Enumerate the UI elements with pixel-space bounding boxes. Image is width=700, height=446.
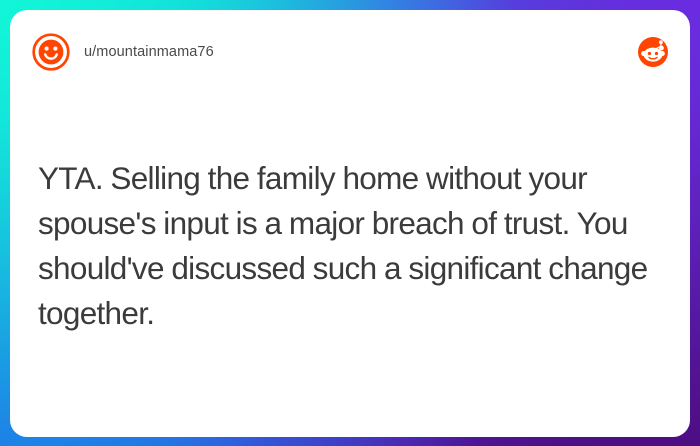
smiley-avatar-icon[interactable] bbox=[32, 33, 70, 71]
post-username[interactable]: u/mountainmama76 bbox=[84, 44, 214, 60]
post-header: u/mountainmama76 bbox=[10, 10, 690, 94]
post-body-text: YTA. Selling the family home without you… bbox=[38, 156, 662, 336]
screenshot-stage: u/mountainmama76 YTA. Selling the fami bbox=[0, 0, 700, 446]
reddit-post-card: u/mountainmama76 YTA. Selling the fami bbox=[10, 10, 690, 437]
reddit-logo-icon[interactable] bbox=[638, 37, 668, 67]
